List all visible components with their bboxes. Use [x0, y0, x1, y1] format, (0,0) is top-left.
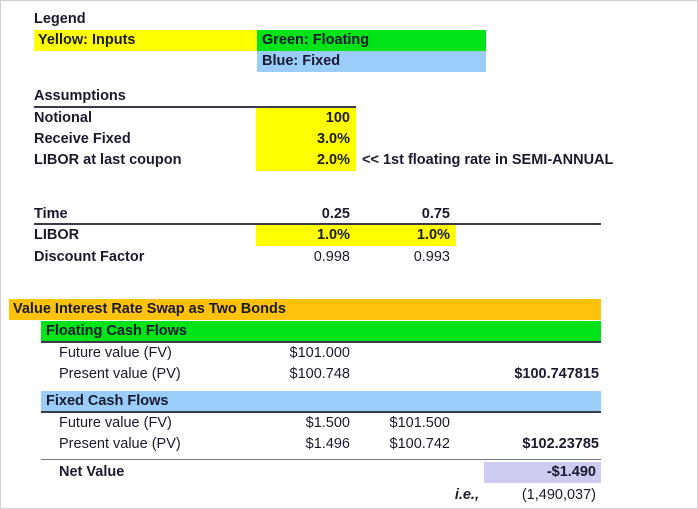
- fixed-pv-row: Present value (PV) $1.496 $100.742 $102.…: [1, 434, 697, 455]
- discount-factor-row: Discount Factor 0.998 0.993: [1, 247, 697, 268]
- legend-title: Legend: [34, 9, 254, 30]
- receive-fixed-value: 3.0%: [256, 129, 356, 150]
- libor-last-coupon-label: LIBOR at last coupon: [34, 150, 249, 171]
- fixed-pv-label: Present value (PV): [59, 434, 259, 455]
- fixed-fv-row: Future value (FV) $1.500 $101.500: [1, 413, 697, 434]
- fixed-pv-col2: $100.742: [356, 434, 456, 455]
- libor-row: LIBOR 1.0% 1.0%: [1, 225, 697, 246]
- ie-value: (1,490,037): [484, 485, 601, 506]
- legend-blue-fixed: Blue: Fixed: [257, 51, 486, 72]
- valuation-title-row: Value Interest Rate Swap as Two Bonds: [1, 299, 697, 320]
- net-value-top-rule: [41, 459, 601, 460]
- floating-fv-label: Future value (FV): [59, 343, 259, 364]
- legend-title-row: Legend: [1, 9, 697, 30]
- fixed-fv-col2: $101.500: [356, 413, 456, 434]
- time-value-2: 0.75: [356, 204, 456, 225]
- legend-yellow-inputs: Yellow: Inputs: [34, 30, 257, 51]
- floating-fv-col1: $101.000: [256, 343, 356, 364]
- floating-fv-row: Future value (FV) $101.000: [1, 343, 697, 364]
- floating-total: $100.747815: [464, 364, 601, 385]
- discount-factor-label: Discount Factor: [34, 247, 249, 268]
- legend-green-floating: Green: Floating: [257, 30, 486, 51]
- time-value-1: 0.25: [256, 204, 356, 225]
- legend-blue-row: Blue: Fixed: [1, 51, 697, 72]
- fixed-header-row: Fixed Cash Flows: [1, 391, 697, 412]
- fixed-cash-flows-header: Fixed Cash Flows: [41, 391, 601, 412]
- libor-last-coupon-value: 2.0%: [256, 150, 356, 171]
- libor-last-coupon-note: << 1st floating rate in SEMI-ANNUAL: [362, 150, 692, 171]
- spreadsheet-page: Legend Yellow: Inputs Green: Floating Bl…: [0, 0, 698, 509]
- assumption-row-notional: Notional 100: [1, 108, 697, 129]
- time-label: Time: [34, 204, 249, 225]
- discount-factor-value-2: 0.993: [356, 247, 456, 268]
- assumption-row-receive-fixed: Receive Fixed 3.0%: [1, 129, 697, 150]
- floating-header-row: Floating Cash Flows: [1, 321, 697, 342]
- assumptions-title-row: Assumptions: [1, 86, 697, 107]
- libor-label: LIBOR: [34, 225, 249, 246]
- net-value-label: Net Value: [59, 462, 259, 483]
- time-row: Time 0.25 0.75: [1, 204, 697, 225]
- floating-pv-col2: [356, 364, 456, 385]
- libor-value-1: 1.0%: [256, 225, 356, 246]
- libor-value-2: 1.0%: [356, 225, 456, 246]
- floating-cash-flows-header: Floating Cash Flows: [41, 321, 601, 342]
- fixed-fv-col1: $1.500: [256, 413, 356, 434]
- receive-fixed-label: Receive Fixed: [34, 129, 249, 150]
- notional-label: Notional: [34, 108, 249, 129]
- floating-fv-col2: [356, 343, 456, 364]
- notional-value: 100: [256, 108, 356, 129]
- floating-pv-row: Present value (PV) $100.748 $100.747815: [1, 364, 697, 385]
- fixed-total: $102.23785: [464, 434, 601, 455]
- net-value-ie-row: i.e., (1,490,037): [1, 485, 697, 506]
- assumption-row-libor-last-coupon: LIBOR at last coupon 2.0% << 1st floatin…: [1, 150, 697, 171]
- fixed-pv-col1: $1.496: [256, 434, 356, 455]
- legend-yellow-row: Yellow: Inputs Green: Floating: [1, 30, 697, 51]
- discount-factor-value-1: 0.998: [256, 247, 356, 268]
- net-value-amount: -$1.490: [484, 462, 601, 483]
- fixed-fv-label: Future value (FV): [59, 413, 259, 434]
- net-value-row: Net Value -$1.490: [1, 462, 697, 483]
- spreadsheet-grid: Legend Yellow: Inputs Green: Floating Bl…: [1, 1, 697, 508]
- assumptions-title: Assumptions: [34, 86, 274, 107]
- ie-label: i.e.,: [401, 485, 479, 506]
- floating-pv-col1: $100.748: [256, 364, 356, 385]
- valuation-title: Value Interest Rate Swap as Two Bonds: [9, 299, 601, 320]
- floating-pv-label: Present value (PV): [59, 364, 259, 385]
